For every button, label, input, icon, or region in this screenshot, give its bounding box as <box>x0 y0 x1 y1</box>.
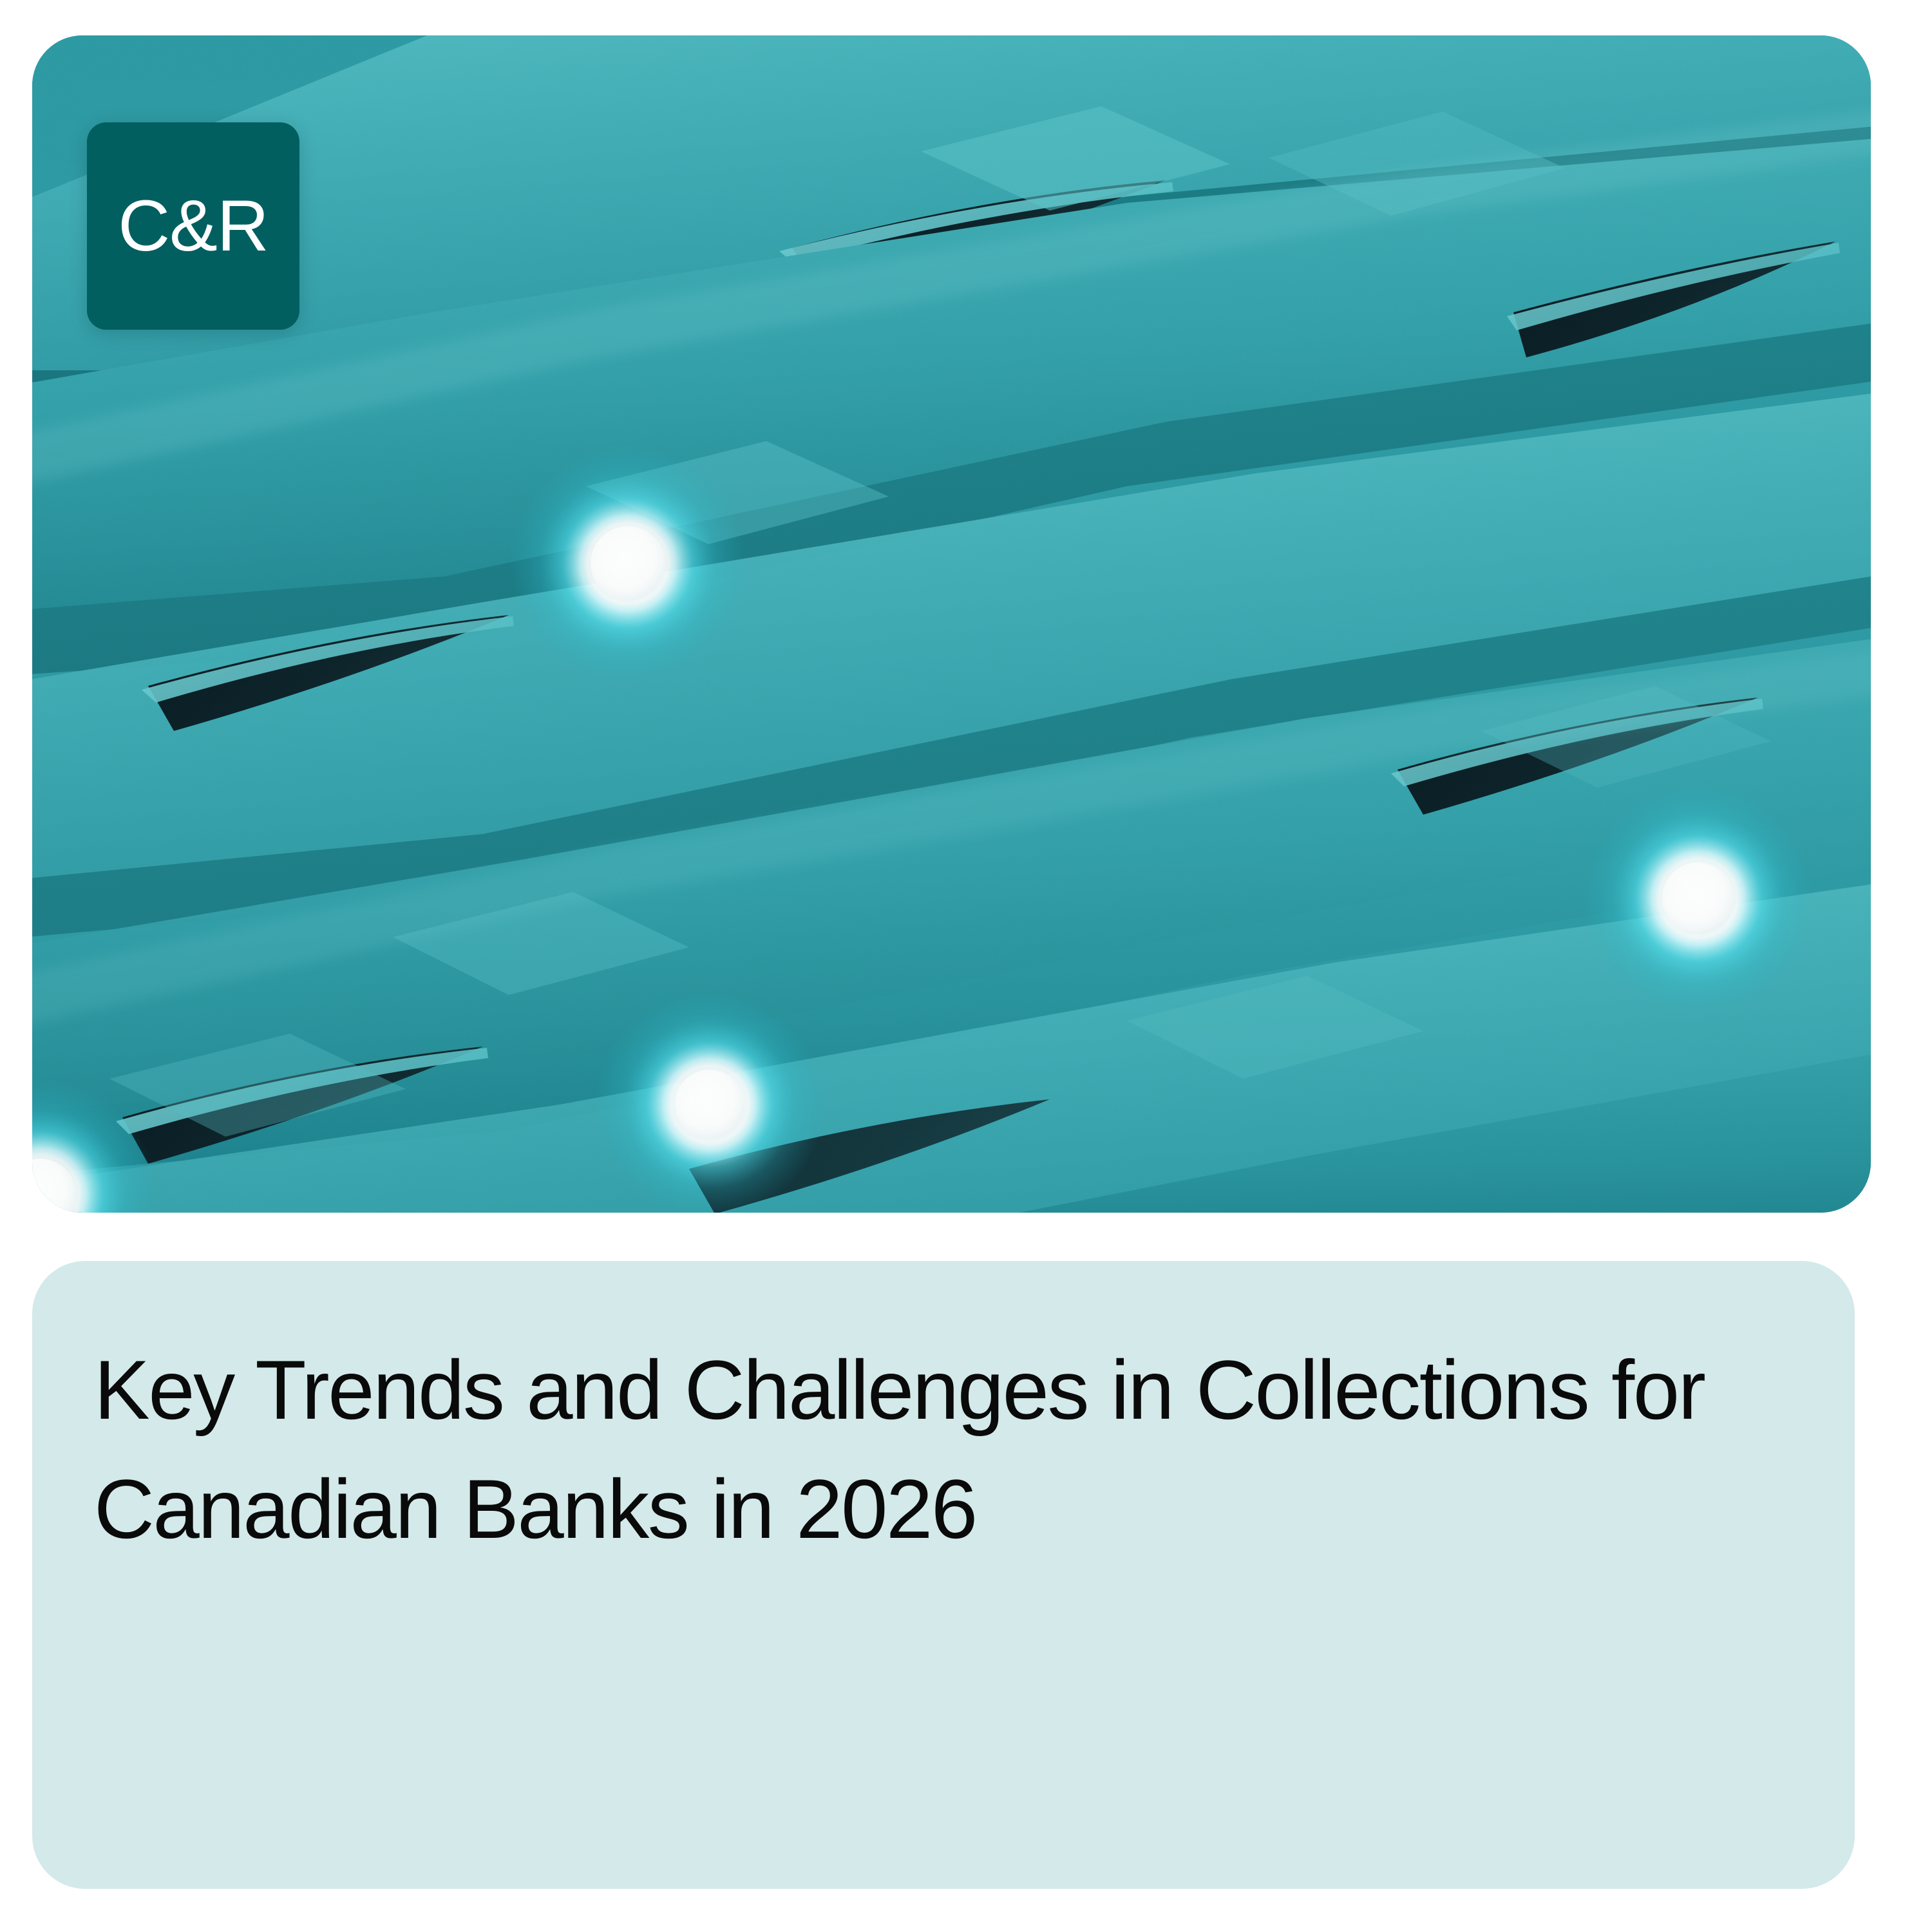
title-card: Key Trends and Challenges in Collections… <box>32 1261 1855 1889</box>
social-post-card: C&R Key Trends and Challenges in Collect… <box>0 0 1932 1932</box>
logo-badge-label: C&R <box>118 190 268 262</box>
page-title: Key Trends and Challenges in Collections… <box>94 1331 1797 1568</box>
abstract-teal-ribbon-artwork <box>32 35 1871 1213</box>
logo-badge[interactable]: C&R <box>87 122 299 330</box>
hero-image-card: C&R <box>32 35 1871 1213</box>
